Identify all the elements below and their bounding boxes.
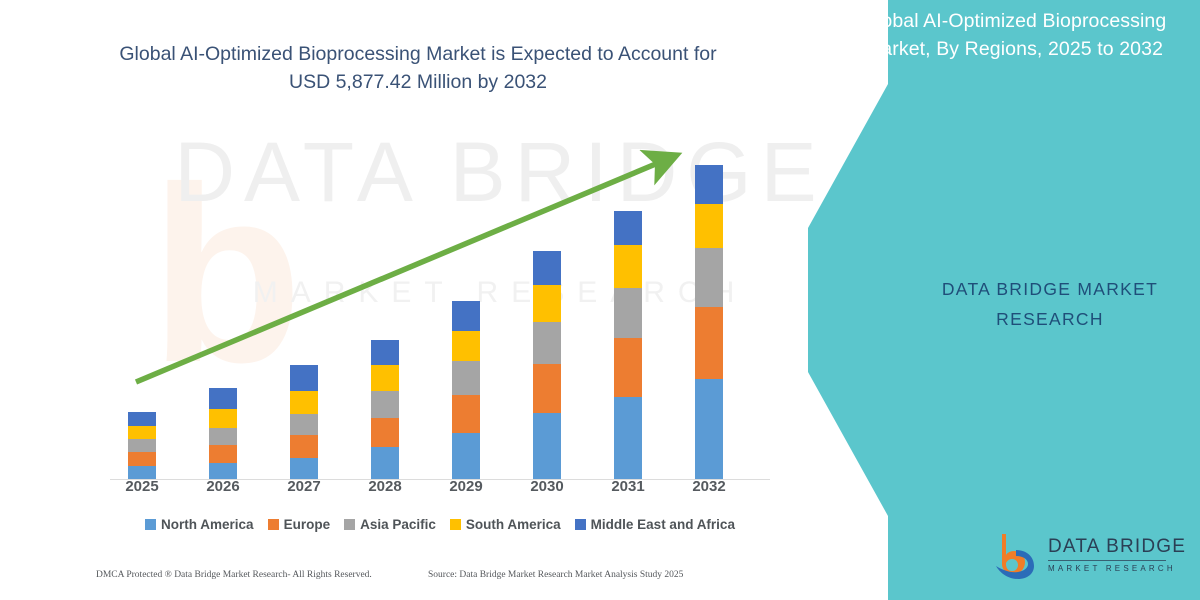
bar-segment-asia-pacific <box>614 288 642 338</box>
bar-2031 <box>614 211 642 479</box>
legend-swatch-icon <box>450 519 461 530</box>
dbmr-logo-text: DATA BRIDGE MARKET RESEARCH <box>1048 536 1186 573</box>
x-axis-label-2029: 2029 <box>436 478 496 495</box>
x-axis-label-2028: 2028 <box>355 478 415 495</box>
bar-segment-north-america <box>452 433 480 479</box>
infographic-canvas: b DATA BRIDGE MARKET RESEARCH Global AI-… <box>0 0 1200 600</box>
bar-2026 <box>209 388 237 479</box>
bar-2029 <box>452 301 480 479</box>
bar-2030 <box>533 251 561 479</box>
bar-segment-europe <box>452 395 480 433</box>
x-axis-label-2030: 2030 <box>517 478 577 495</box>
bar-segment-europe <box>533 364 561 413</box>
logo-divider <box>1048 560 1166 561</box>
bar-segment-north-america <box>533 413 561 479</box>
panel-title: Global AI-Optimized Bioprocessing Market… <box>844 8 1184 63</box>
bar-segment-middle-east-and-africa <box>371 340 399 365</box>
page-title: Global AI-Optimized Bioprocessing Market… <box>108 40 728 97</box>
x-axis-label-2026: 2026 <box>193 478 253 495</box>
footer-copyright: DMCA Protected ® Data Bridge Market Rese… <box>96 570 372 580</box>
bar-segment-asia-pacific <box>290 414 318 435</box>
legend-item-south-america[interactable]: South America <box>450 517 561 532</box>
bar-segment-north-america <box>209 463 237 479</box>
bar-segment-middle-east-and-africa <box>614 211 642 245</box>
bar-segment-europe <box>209 445 237 463</box>
bar-2027 <box>290 365 318 479</box>
bar-segment-south-america <box>371 365 399 391</box>
x-axis-labels: 20252026202720282029203020312032 <box>110 478 770 502</box>
legend-item-asia-pacific[interactable]: Asia Pacific <box>344 517 436 532</box>
bar-2025 <box>128 412 156 479</box>
bar-segment-south-america <box>614 245 642 288</box>
bar-segment-europe <box>371 418 399 447</box>
bar-segment-north-america <box>371 447 399 479</box>
bar-segment-south-america <box>452 331 480 361</box>
footer-source: Source: Data Bridge Market Research Mark… <box>428 570 683 580</box>
bar-segment-europe <box>695 307 723 379</box>
panel-brand-line2: RESEARCH <box>900 305 1200 335</box>
dbmr-logo-tagline: MARKET RESEARCH <box>1048 564 1186 573</box>
bar-segment-asia-pacific <box>128 439 156 452</box>
bar-segment-europe <box>290 435 318 458</box>
legend-label: Europe <box>284 517 331 532</box>
bar-segment-south-america <box>533 285 561 322</box>
bar-segment-middle-east-and-africa <box>128 412 156 426</box>
panel-brand: DATA BRIDGE MARKET RESEARCH <box>900 275 1200 335</box>
bar-segment-south-america <box>209 409 237 428</box>
bar-segment-south-america <box>128 426 156 439</box>
bar-segment-middle-east-and-africa <box>695 165 723 204</box>
bar-2028 <box>371 340 399 479</box>
bar-segment-north-america <box>614 397 642 479</box>
dbmr-logo: DATA BRIDGE MARKET RESEARCH <box>988 530 1188 582</box>
bar-segment-europe <box>128 452 156 466</box>
bar-chart-plot-area <box>110 140 770 480</box>
legend-swatch-icon <box>268 519 279 530</box>
bar-segment-middle-east-and-africa <box>533 251 561 285</box>
chart-legend: North AmericaEuropeAsia PacificSouth Ame… <box>110 513 770 535</box>
bar-segment-middle-east-and-africa <box>290 365 318 391</box>
bar-segment-asia-pacific <box>695 248 723 307</box>
legend-label: Asia Pacific <box>360 517 436 532</box>
legend-label: North America <box>161 517 254 532</box>
bar-segment-south-america <box>290 391 318 414</box>
legend-label: South America <box>466 517 561 532</box>
legend-swatch-icon <box>575 519 586 530</box>
dbmr-logo-name: DATA BRIDGE <box>1048 536 1186 558</box>
legend-swatch-icon <box>344 519 355 530</box>
bar-segment-south-america <box>695 204 723 248</box>
legend-item-europe[interactable]: Europe <box>268 517 331 532</box>
bar-2032 <box>695 165 723 479</box>
bar-segment-asia-pacific <box>371 391 399 418</box>
bar-segment-asia-pacific <box>533 322 561 364</box>
legend-swatch-icon <box>145 519 156 530</box>
bar-segment-middle-east-and-africa <box>209 388 237 409</box>
x-axis-label-2032: 2032 <box>679 478 739 495</box>
x-axis-label-2027: 2027 <box>274 478 334 495</box>
dbmr-b-mark-icon <box>988 530 1046 580</box>
bar-segment-europe <box>614 338 642 397</box>
bar-segment-middle-east-and-africa <box>452 301 480 331</box>
panel-brand-line1: DATA BRIDGE MARKET <box>900 275 1200 305</box>
bar-segment-north-america <box>290 458 318 479</box>
legend-item-north-america[interactable]: North America <box>145 517 254 532</box>
x-axis-label-2031: 2031 <box>598 478 658 495</box>
x-axis-label-2025: 2025 <box>112 478 172 495</box>
bar-segment-asia-pacific <box>452 361 480 395</box>
bar-segment-asia-pacific <box>209 428 237 445</box>
bar-segment-north-america <box>695 379 723 479</box>
legend-item-middle-east-and-africa[interactable]: Middle East and Africa <box>575 517 735 532</box>
legend-label: Middle East and Africa <box>591 517 735 532</box>
